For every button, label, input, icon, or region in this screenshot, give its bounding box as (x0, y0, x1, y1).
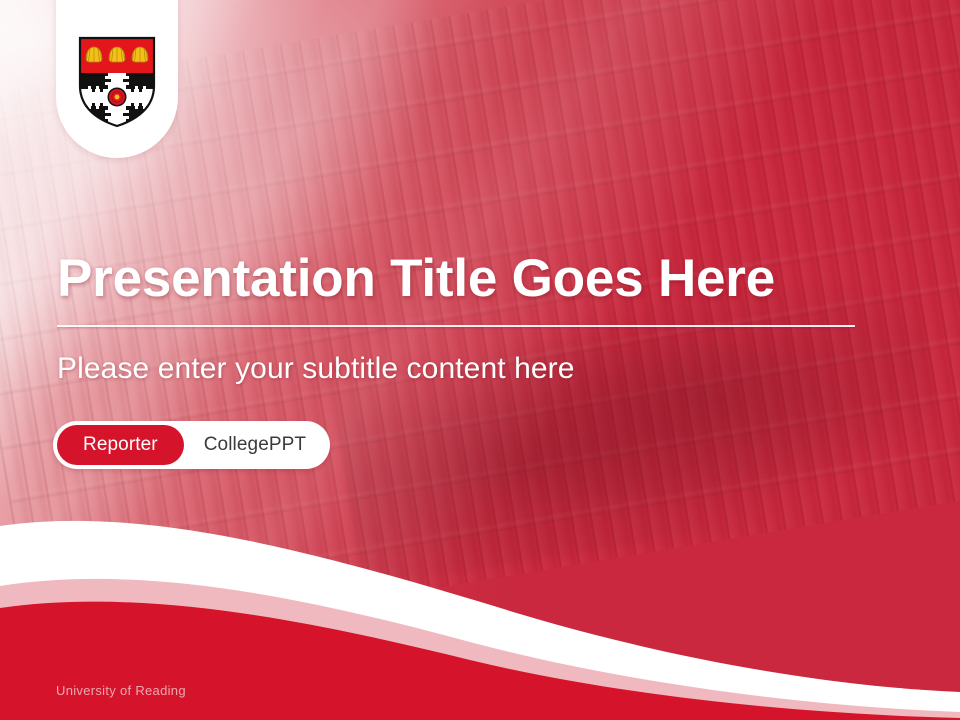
reporter-label: Reporter (83, 434, 158, 456)
crest-tab (56, 0, 178, 158)
presentation-slide: Presentation Title Goes Here Please ente… (0, 0, 960, 720)
university-crest-icon (78, 36, 156, 128)
page-subtitle: Please enter your subtitle content here (57, 352, 575, 386)
reporter-label-chip[interactable]: Reporter (57, 425, 184, 465)
reporter-value: CollegePPT (184, 434, 330, 456)
bottom-wave-decoration (0, 490, 960, 720)
page-title: Presentation Title Goes Here (57, 250, 877, 307)
reporter-badge[interactable]: Reporter CollegePPT (53, 421, 330, 469)
title-divider (57, 325, 855, 327)
